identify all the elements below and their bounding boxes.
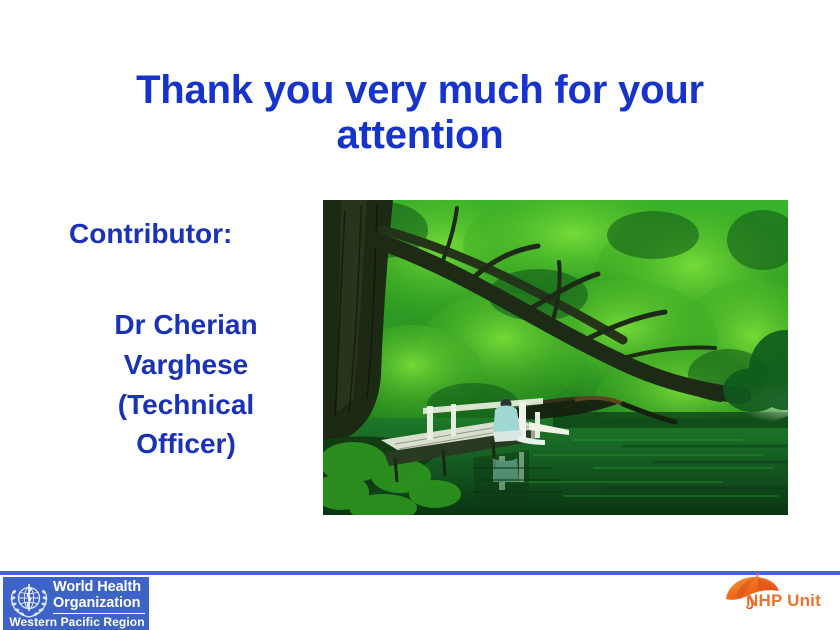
slide-title: Thank you very much for your attention xyxy=(60,68,780,158)
nhp-unit-logo: NHP Unit xyxy=(722,573,834,619)
who-wordmark-line-1: World Health xyxy=(53,579,147,595)
who-wordmark: World Health Organization xyxy=(53,579,147,612)
who-emblem-svg xyxy=(8,580,50,620)
contributor-name-line-1: Dr Cherian xyxy=(55,305,317,345)
photo-illustration xyxy=(323,200,788,515)
nhp-unit-label: NHP Unit xyxy=(746,591,821,611)
contributor-name: Dr Cherian Varghese (Technical Officer) xyxy=(55,305,317,464)
who-emblem-icon xyxy=(8,580,50,620)
contributor-name-line-4: Officer) xyxy=(55,424,317,464)
who-wordmark-line-2: Organization xyxy=(53,595,147,611)
who-wordmark-divider xyxy=(53,613,145,614)
contributor-label: Contributor: xyxy=(55,218,317,250)
who-logo: World Health Organization Western Pacifi… xyxy=(3,577,149,630)
footer-divider xyxy=(0,571,840,575)
contributor-block: Contributor: Dr Cherian Varghese (Techni… xyxy=(55,218,317,464)
nature-photograph xyxy=(323,200,788,515)
who-region-label: Western Pacific Region xyxy=(7,615,147,629)
presentation-slide: Thank you very much for your attention C… xyxy=(0,0,840,630)
contributor-name-line-3: (Technical xyxy=(55,385,317,425)
contributor-name-line-2: Varghese xyxy=(55,345,317,385)
